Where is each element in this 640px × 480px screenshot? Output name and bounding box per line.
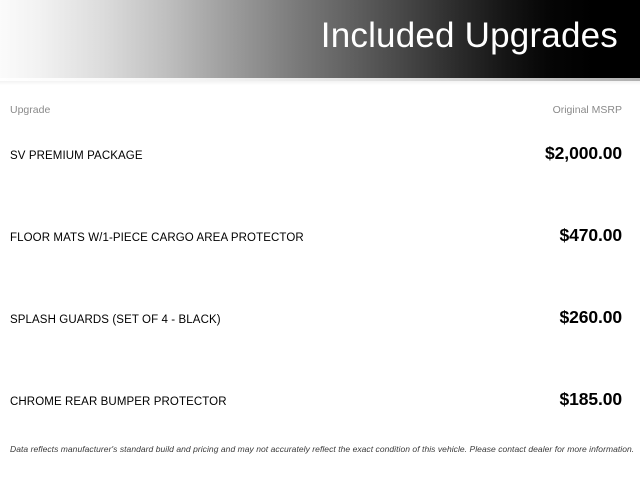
table-body: SV PREMIUM PACKAGE $2,000.00 FLOOR MATS … [0, 143, 640, 471]
page-header-banner: Included Upgrades [0, 0, 640, 78]
upgrade-price: $185.00 [559, 389, 622, 410]
upgrade-price: $260.00 [559, 307, 622, 328]
table-row: SPLASH GUARDS (SET OF 4 - BLACK) $260.00 [0, 307, 640, 389]
table-row: CHROME REAR BUMPER PROTECTOR $185.00 [0, 389, 640, 471]
table-header-row: Upgrade Original MSRP [0, 85, 640, 116]
upgrade-name: FLOOR MATS W/1-PIECE CARGO AREA PROTECTO… [10, 232, 304, 244]
included-upgrades-page: Included Upgrades Upgrade Original MSRP … [0, 0, 640, 471]
column-header-upgrade: Upgrade [10, 104, 50, 116]
upgrade-price: $470.00 [559, 225, 622, 246]
upgrades-table: Upgrade Original MSRP SV PREMIUM PACKAGE… [0, 85, 640, 471]
footer: Data reflects manufacturer's standard bu… [10, 443, 622, 455]
page-title: Included Upgrades [321, 14, 618, 58]
upgrade-name: SPLASH GUARDS (SET OF 4 - BLACK) [10, 314, 221, 326]
table-row: FLOOR MATS W/1-PIECE CARGO AREA PROTECTO… [0, 225, 640, 307]
disclaimer-text: Data reflects manufacturer's standard bu… [10, 443, 622, 455]
upgrade-price: $2,000.00 [545, 143, 622, 164]
upgrade-name: CHROME REAR BUMPER PROTECTOR [10, 396, 227, 408]
table-row: SV PREMIUM PACKAGE $2,000.00 [0, 143, 640, 225]
upgrade-name: SV PREMIUM PACKAGE [10, 150, 143, 162]
column-header-original-msrp: Original MSRP [553, 104, 622, 116]
